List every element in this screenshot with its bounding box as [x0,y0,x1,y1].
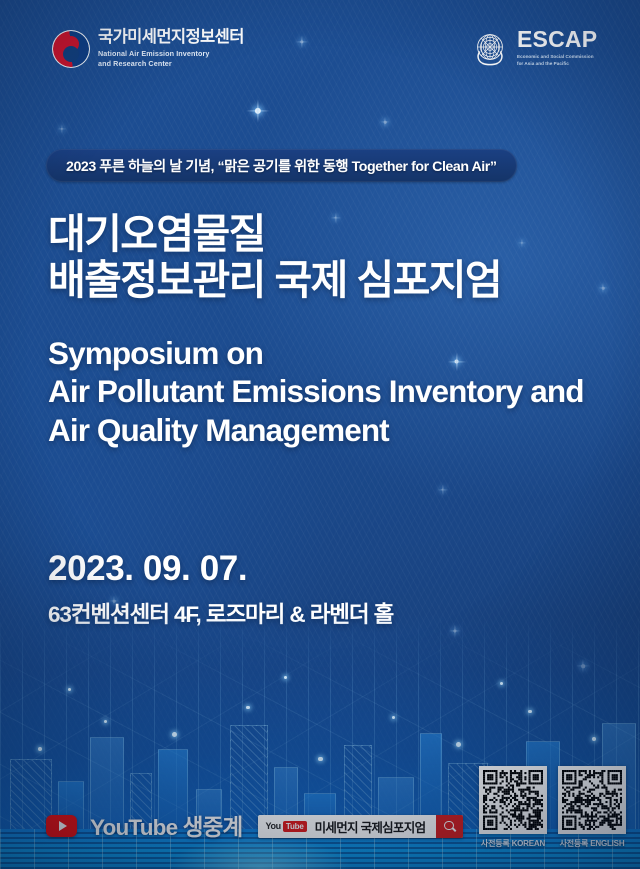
youtube-logo-you: You [265,821,280,831]
title-english: Symposium on Air Pollutant Emissions Inv… [48,334,584,449]
qr-code-icon[interactable] [558,766,626,834]
youtube-play-icon[interactable] [46,815,77,837]
title-kr-line1: 대기오염물질 [48,212,501,258]
youtube-logo-tube: Tube [283,821,307,832]
escap-subtitle-line2: for Asia and the Pacific [517,61,597,68]
youtube-logo-icon: You Tube [258,815,312,838]
sparkle-star [380,117,390,127]
qr-label-english: 사전등록 ENGLISH [560,838,625,849]
youtube-search-box[interactable]: You Tube 미세먼지 국제심포지엄 [258,815,463,838]
qr-registration-korean[interactable]: 사전등록 KOREAN [479,766,547,849]
title-en-line3: Air Quality Management [48,411,584,449]
escap-name: ESCAP [517,28,597,51]
naeir-name-kr: 국가미세먼지정보센터 [98,29,244,46]
naeir-name-en-line2: and Research Center [98,59,244,69]
title-en-line1: Symposium on [48,334,584,372]
qr-label-korean: 사전등록 KOREAN [481,838,545,849]
youtube-search-query[interactable]: 미세먼지 국제심포지엄 [313,815,437,838]
event-date: 2023. 09. 07. [48,551,247,586]
sparkle-star [517,238,526,247]
un-emblem-icon [470,28,510,68]
sparkle-star [57,124,66,133]
naeir-name-en-line1: National Air Emission Inventory [98,49,244,59]
search-icon [444,821,455,832]
escap-subtitle-line1: Economic and Social Commission [517,54,597,61]
naeir-logo: 국가미세먼지정보센터 National Air Emission Invento… [52,29,244,69]
taegeuk-emblem-icon [52,30,90,68]
escap-logo: ESCAP Economic and Social Commission for… [470,28,597,68]
title-korean: 대기오염물질 배출정보관리 국제 심포지엄 [48,212,501,304]
qr-code-icon[interactable] [479,766,547,834]
sparkle-star [598,283,608,293]
sparkle-star [246,99,270,123]
youtube-search-button[interactable] [436,815,463,838]
registration-qr-area: 사전등록 KOREAN 사전등록 ENGLISH [479,766,626,849]
qr-registration-english[interactable]: 사전등록 ENGLISH [558,766,626,849]
tagline-pill: 2023 푸른 하늘의 날 기념, “맑은 공기를 위한 동행 Together… [46,149,517,182]
title-kr-line2: 배출정보관리 국제 심포지엄 [48,258,501,304]
title-en-line2: Air Pollutant Emissions Inventory and [48,372,584,410]
tagline-text: 2023 푸른 하늘의 날 기념, “맑은 공기를 위한 동행 Together… [66,156,497,176]
youtube-live-row: YouTube 생중계 You Tube 미세먼지 국제심포지엄 [46,810,463,842]
youtube-live-label: YouTube 생중계 [90,810,242,842]
header-logos: 국가미세먼지정보센터 National Air Emission Invento… [0,28,640,80]
symposium-poster: 국가미세먼지정보센터 National Air Emission Invento… [0,0,640,869]
sparkle-star [437,484,448,495]
